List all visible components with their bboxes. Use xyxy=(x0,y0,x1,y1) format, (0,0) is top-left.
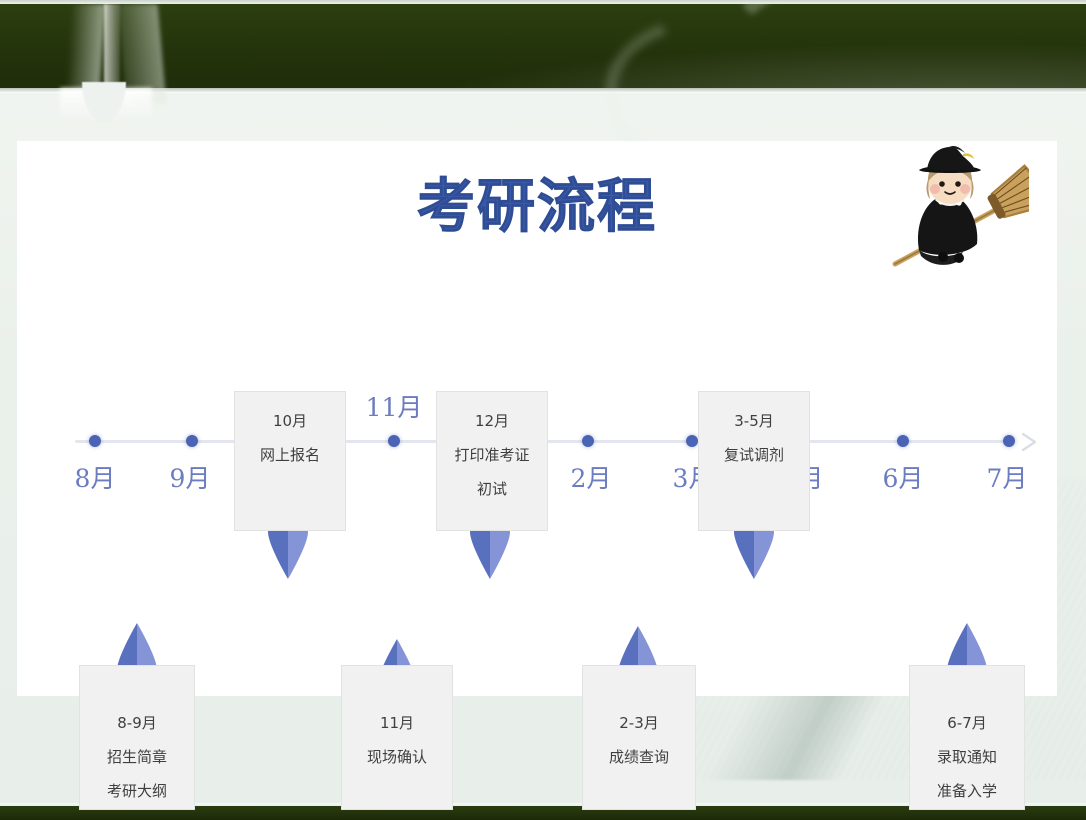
milestone-line: 8-9月 xyxy=(80,716,194,731)
content-panel: 考研流程 xyxy=(17,141,1057,696)
milestone-line: 录取通知 xyxy=(910,750,1024,765)
milestone-line: 6-7月 xyxy=(910,716,1024,731)
milestone-line: 准备入学 xyxy=(910,784,1024,799)
header-top-edge xyxy=(0,0,1086,4)
timeline-arrow-icon xyxy=(1017,428,1045,456)
timeline-dot xyxy=(1003,435,1015,447)
milestone-line: 考研大纲 xyxy=(80,784,194,799)
timeline-dot xyxy=(897,435,909,447)
timeline-dot xyxy=(686,435,698,447)
timeline-dot xyxy=(582,435,594,447)
milestone-line: 初试 xyxy=(437,482,547,497)
header-bottom-edge xyxy=(0,88,1086,92)
milestone-line: 打印准考证 xyxy=(437,448,547,463)
milestone-line: 复试调剂 xyxy=(699,448,809,463)
timeline-dot xyxy=(89,435,101,447)
timeline-month-label: 2月 xyxy=(571,459,612,495)
timeline-month-label: 6月 xyxy=(883,459,924,495)
timeline-month-label: 9月 xyxy=(170,459,211,495)
milestone-line: 10月 xyxy=(235,414,345,429)
milestone-line: 网上报名 xyxy=(235,448,345,463)
milestone-line: 现场确认 xyxy=(342,750,452,765)
milestone-line: 12月 xyxy=(437,414,547,429)
milestone-line: 3-5月 xyxy=(699,414,809,429)
milestone-line: 11月 xyxy=(342,716,452,731)
timeline-dot xyxy=(388,435,400,447)
milestone-2-3yue: 2-3月成绩查询 xyxy=(582,665,696,810)
timeline-month-label: 8月 xyxy=(75,459,116,495)
timeline-month-label: 11月 xyxy=(366,388,423,424)
milestone-line: 2-3月 xyxy=(583,716,695,731)
milestone-3-5yue: 3-5月复试调剂 xyxy=(698,391,810,531)
milestone-line: 招生简章 xyxy=(80,750,194,765)
milestone-8-9yue: 8-9月招生简章考研大纲 xyxy=(79,665,195,810)
milestone-6-7yue: 6-7月录取通知准备入学 xyxy=(909,665,1025,810)
presentation-slide: 考研流程 xyxy=(0,0,1086,820)
milestone-11yue: 11月现场确认 xyxy=(341,665,453,810)
milestone-line: 成绩查询 xyxy=(583,750,695,765)
slide-header-banner xyxy=(0,4,1086,92)
milestone-12yue: 12月打印准考证初试 xyxy=(436,391,548,531)
milestone-10yue: 10月网上报名 xyxy=(234,391,346,531)
timeline-dot xyxy=(186,435,198,447)
witch-on-broomstick-icon xyxy=(879,146,1029,276)
timeline-month-label: 7月 xyxy=(987,459,1028,495)
